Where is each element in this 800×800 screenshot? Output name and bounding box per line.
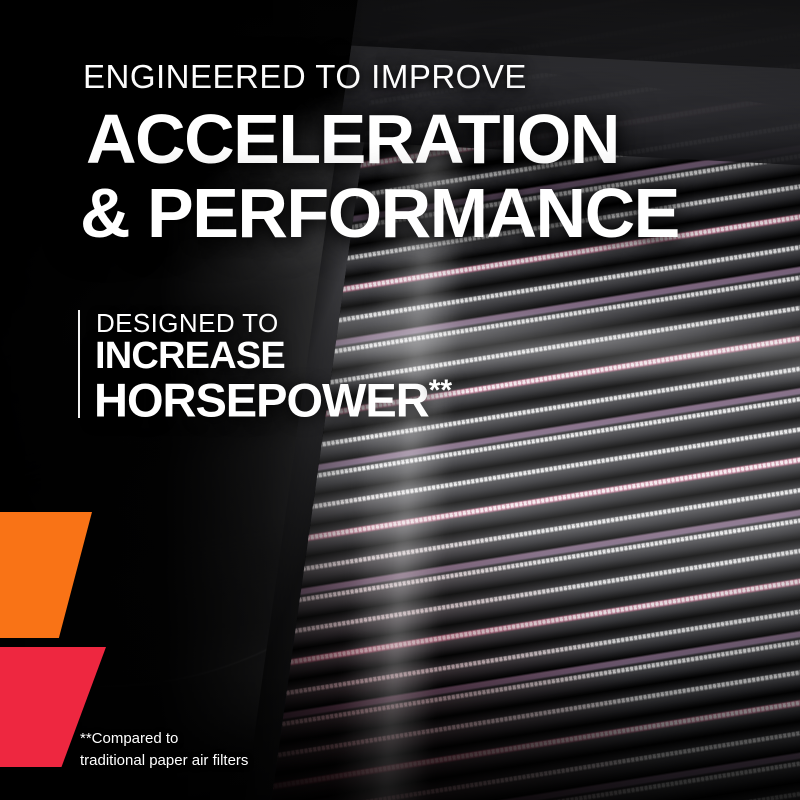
eyebrow-designed-to: DESIGNED TO <box>96 310 279 336</box>
footnote-disclaimer: **Compared to traditional paper air filt… <box>80 728 248 772</box>
footnote-marker-asterisks: ** <box>429 374 452 407</box>
headline-and-performance: & PERFORMANCE <box>80 178 679 248</box>
air-filter-promo-banner: ENGINEERED TO IMPROVE ACCELERATION & PER… <box>0 0 800 800</box>
headline-horsepower: HORSEPOWER** <box>94 376 452 424</box>
vertical-accent-rule <box>78 310 80 418</box>
headline-increase: INCREASE <box>95 337 285 375</box>
headline-acceleration: ACCELERATION <box>86 104 619 174</box>
eyebrow-engineered-to-improve: ENGINEERED TO IMPROVE <box>83 60 527 93</box>
headline-horsepower-text: HORSEPOWER <box>94 374 429 427</box>
